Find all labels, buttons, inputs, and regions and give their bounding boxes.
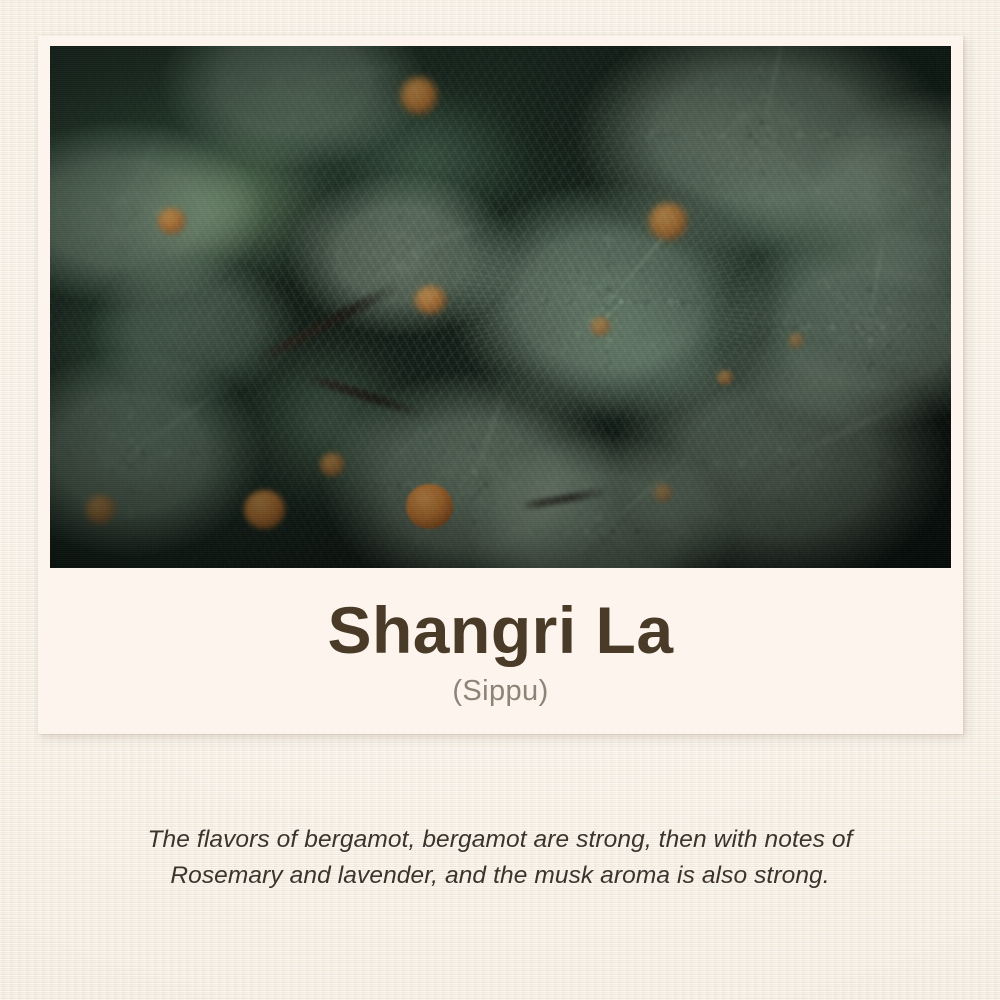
card-caption: Shangri La (Sippu) bbox=[38, 568, 963, 734]
photo-grain bbox=[50, 46, 951, 568]
description-text: The flavors of bergamot, bergamot are st… bbox=[90, 822, 910, 894]
card-photo bbox=[50, 46, 951, 568]
conifer-photograph bbox=[50, 46, 951, 568]
subtitle: (Sippu) bbox=[452, 675, 548, 708]
page-title: Shangri La bbox=[327, 596, 673, 665]
scent-card: Shangri La (Sippu) bbox=[38, 36, 963, 734]
